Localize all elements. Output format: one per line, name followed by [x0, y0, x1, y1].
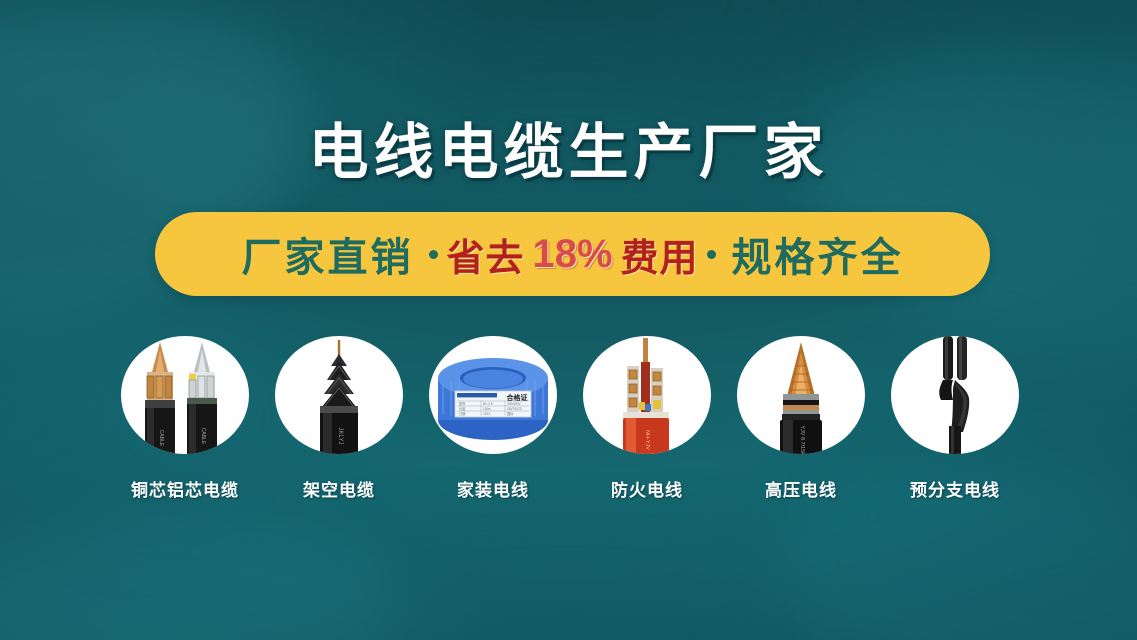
promo-highlight-prefix: 省去 [446, 227, 524, 282]
svg-text:CABLE: CABLE [158, 430, 164, 447]
pre-branch-wire-icon [891, 336, 1019, 454]
product-thumbnail: 合格证 型号BV 2.5300/500V 长度100mGB/T5023 日期20… [429, 336, 557, 454]
svg-text:日期: 日期 [459, 411, 465, 416]
product-item-high-voltage-wire[interactable]: YJV 8.7/15kV 高压电线 [736, 336, 866, 501]
dot-icon [707, 250, 716, 259]
svg-text:BV 2.5: BV 2.5 [483, 402, 493, 406]
promo-right-text: 规格齐全 [732, 225, 904, 283]
svg-text:国标: 国标 [507, 411, 514, 416]
svg-text:100m: 100m [483, 407, 491, 411]
product-label: 架空电缆 [303, 476, 375, 501]
promo-highlight-percent: 18% [532, 232, 612, 277]
svg-text:GB/T5023: GB/T5023 [507, 407, 522, 411]
copper-aluminum-cable-icon: CABLE CABLE [121, 336, 249, 454]
product-thumbnail: YJV 8.7/15kV [737, 336, 865, 454]
svg-text:NH-YJV: NH-YJV [644, 430, 650, 450]
fireproof-wire-icon: NH-YJV [583, 336, 711, 454]
product-item-overhead-cable[interactable]: JKLYJ 架空电缆 [274, 336, 404, 501]
house-wire-coil-icon: 合格证 型号BV 2.5300/500V 长度100mGB/T5023 日期20… [429, 336, 557, 454]
promo-banner: 厂家直销 省去 18% 费用 规格齐全 [155, 212, 990, 296]
svg-text:合格证: 合格证 [506, 393, 528, 402]
overhead-cable-icon: JKLYJ [275, 336, 403, 454]
product-thumbnail: CABLE CABLE [121, 336, 249, 454]
product-thumbnail [891, 336, 1019, 454]
svg-text:2023: 2023 [483, 412, 490, 416]
product-label: 预分支电线 [910, 476, 1000, 501]
promo-highlight-suffix: 费用 [621, 227, 699, 282]
background-vignette [0, 0, 1137, 640]
product-label: 防火电线 [611, 476, 683, 501]
product-item-house-wire[interactable]: 合格证 型号BV 2.5300/500V 长度100mGB/T5023 日期20… [428, 336, 558, 501]
svg-text:JKLYJ: JKLYJ [337, 428, 343, 445]
product-label: 家装电线 [457, 476, 529, 501]
product-item-copper-aluminum-cable[interactable]: CABLE CABLE [120, 336, 250, 501]
promo-highlight-group: 省去 18% 费用 [429, 227, 715, 282]
poster-canvas: 电线电缆生产厂家 厂家直销 省去 18% 费用 规格齐全 [0, 0, 1137, 640]
promo-banner-row: 厂家直销 省去 18% 费用 规格齐全 [155, 212, 990, 296]
promo-left-text: 厂家直销 [241, 225, 413, 283]
product-label: 高压电线 [765, 476, 837, 501]
product-item-fireproof-wire[interactable]: NH-YJV 防火电线 [582, 336, 712, 501]
product-thumbnail: NH-YJV [583, 336, 711, 454]
svg-text:300/500V: 300/500V [507, 402, 522, 406]
svg-text:型号: 型号 [459, 401, 465, 406]
svg-text:长度: 长度 [459, 406, 466, 411]
page-title: 电线电缆生产厂家 [0, 104, 1137, 191]
product-item-pre-branch-wire[interactable]: 预分支电线 [890, 336, 1020, 501]
high-voltage-wire-icon: YJV 8.7/15kV [737, 336, 865, 454]
product-thumbnail: JKLYJ [275, 336, 403, 454]
product-list: CABLE CABLE [120, 336, 1020, 501]
product-label: 铜芯铝芯电缆 [131, 476, 239, 501]
svg-text:YJV 8.7/15kV: YJV 8.7/15kV [799, 425, 805, 454]
dot-icon [429, 250, 438, 259]
svg-text:CABLE: CABLE [200, 428, 206, 445]
